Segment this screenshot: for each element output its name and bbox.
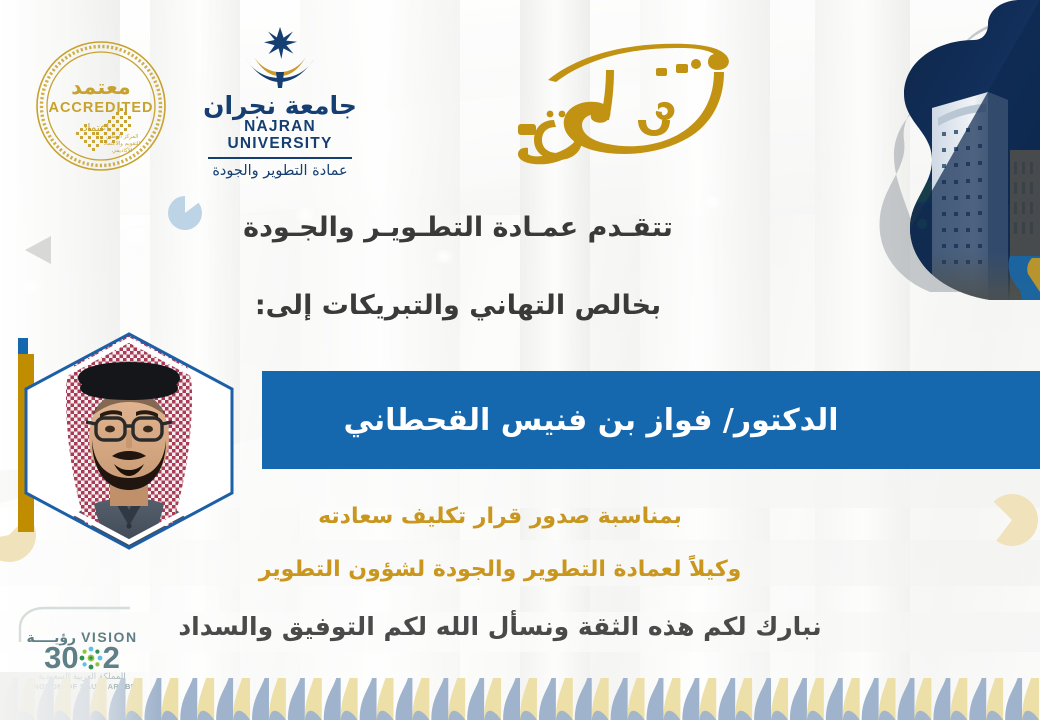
vision-year-right: 30: [44, 644, 78, 672]
seal-arabic-label: معتمد: [71, 75, 131, 99]
vision-arc-decoration: [18, 606, 146, 642]
seal-authority-full-line2: للتقويم والاعتماد: [104, 141, 141, 147]
vision-year-left: 2: [103, 644, 120, 672]
university-name-english: NAJRAN UNIVERSITY: [196, 118, 364, 152]
strip-left-fade: [0, 672, 160, 720]
logo-divider: [208, 157, 352, 159]
seal-authority-full-line3: الأكاديمي: [112, 146, 132, 154]
bottom-chevron-pattern: [0, 672, 1040, 720]
headline-line-1: تتقـدم عمـادة التطـويـر والجـودة: [0, 212, 916, 243]
honoree-name-banner: الدكتور/ فواز بن فنيس القحطاني: [262, 371, 1040, 469]
university-name-arabic: جامعة نجران: [196, 93, 364, 118]
congratulation-poster: معتمد ACCREDITED اعتماد: [0, 0, 1040, 720]
najran-campus-night-blob-icon: [870, 0, 1040, 300]
saudi-vision-emblem-icon: [78, 645, 104, 671]
body-line-3: نبارك لكم هذه الثقة ونسأل الله لكم التوف…: [0, 612, 1000, 641]
seal-english-label: ACCREDITED: [48, 100, 153, 116]
honoree-name: الدكتور/ فواز بن فنيس القحطاني: [343, 403, 958, 438]
accreditation-seal: معتمد ACCREDITED اعتماد: [34, 36, 169, 176]
deanship-name-arabic: عمادة التطوير والجودة: [196, 164, 364, 180]
calligraphy-tahniah: [510, 28, 780, 178]
seal-authority-full-line1: المركز الوطني: [106, 133, 139, 140]
najran-university-star-mark-icon: [196, 26, 364, 88]
najran-university-logo: جامعة نجران NAJRAN UNIVERSITY عمادة التط…: [196, 26, 364, 166]
headline-line-2: بخالص التهاني والتبريكات إلى:: [0, 290, 916, 321]
body-line-2: وكيلاً لعمادة التطوير والجودة لشؤون التط…: [0, 557, 1000, 582]
body-line-1: بمناسبة صدور قرار تكليف سعادته: [0, 504, 1000, 529]
